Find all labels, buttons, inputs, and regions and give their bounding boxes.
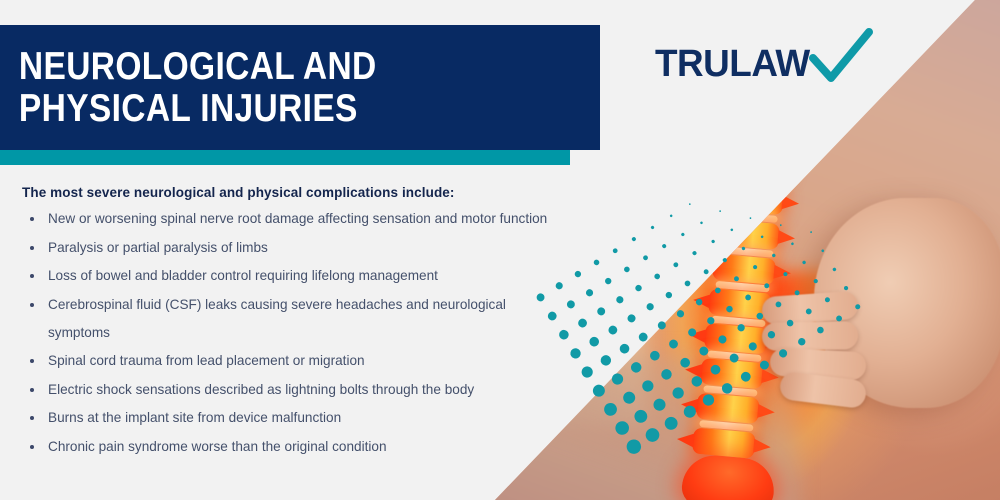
halftone-dot (730, 228, 733, 231)
halftone-dot (749, 217, 751, 219)
halftone-dot (599, 353, 613, 367)
halftone-dot (700, 221, 703, 224)
list-item-label: Loss of bowel and bladder control requir… (48, 268, 438, 283)
halftone-dot (585, 288, 595, 298)
halftone-dot (645, 302, 655, 312)
halftone-dot (650, 225, 654, 229)
sacrum-shape (680, 453, 776, 500)
list-item: Spinal cord trauma from lead placement o… (24, 347, 569, 375)
bullet-dot-icon (30, 303, 34, 307)
halftone-dot (615, 295, 625, 305)
hand-on-back (814, 198, 1000, 408)
halftone-dot (661, 243, 667, 249)
list-item: Cerebrospinal fluid (CSF) leaks causing … (24, 291, 569, 347)
halftone-dot (653, 273, 661, 281)
list-item: Loss of bowel and bladder control requir… (24, 262, 569, 290)
halftone-dot (634, 284, 643, 293)
list-item: Electric shock sensations described as l… (24, 376, 569, 404)
bullet-dot-icon (30, 274, 34, 278)
halftone-dot (623, 266, 631, 274)
bullet-dot-icon (30, 217, 34, 221)
list-item-label: Cerebrospinal fluid (CSF) leaks causing … (48, 297, 506, 340)
halftone-dot (607, 324, 619, 336)
halftone-dot (703, 268, 710, 275)
halftone-dot (593, 259, 601, 267)
list-item-label: Electric shock sensations described as l… (48, 382, 474, 397)
complications-list: New or worsening spinal nerve root damag… (24, 205, 569, 461)
halftone-dot (596, 306, 607, 317)
list-item-label: Paralysis or partial paralysis of limbs (48, 240, 268, 255)
slide-canvas: NEUROLOGICAL AND PHYSICAL INJURIES TRULA… (0, 0, 1000, 500)
halftone-dot (672, 261, 679, 268)
bullet-dot-icon (30, 359, 34, 363)
intro-heading: The most severe neurological and physica… (22, 185, 455, 200)
halftone-dot (612, 247, 619, 254)
list-item-label: Spinal cord trauma from lead placement o… (48, 353, 365, 368)
halftone-dot (618, 342, 631, 355)
halftone-dot (580, 364, 595, 379)
halftone-dot (604, 277, 613, 286)
halftone-dot (664, 291, 673, 300)
halftone-dot (689, 203, 691, 205)
halftone-dot (574, 270, 583, 279)
halftone-dot (684, 280, 692, 288)
spine-illustration (674, 43, 833, 499)
list-item-label: Burns at the implant site from device ma… (48, 410, 341, 425)
title-banner: NEUROLOGICAL AND PHYSICAL INJURIES (0, 25, 600, 150)
list-item: Chronic pain syndrome worse than the ori… (24, 433, 569, 461)
list-item: Paralysis or partial paralysis of limbs (24, 234, 569, 262)
bullet-dot-icon (30, 416, 34, 420)
accent-bar (0, 150, 570, 165)
halftone-dot (568, 346, 582, 360)
bullet-dot-icon (30, 388, 34, 392)
list-item-label: New or worsening spinal nerve root damag… (48, 211, 547, 226)
list-item-label: Chronic pain syndrome worse than the ori… (48, 439, 387, 454)
halftone-dot (669, 214, 672, 217)
halftone-dot (626, 313, 637, 324)
halftone-dot (577, 317, 589, 329)
halftone-dot (681, 232, 685, 236)
bullet-dot-icon (30, 246, 34, 250)
trulaw-logo[interactable]: TRULAW (655, 38, 875, 90)
halftone-dot (692, 250, 698, 256)
logo-wordmark: TRULAW (655, 43, 810, 86)
list-item: New or worsening spinal nerve root damag… (24, 205, 569, 233)
page-title: NEUROLOGICAL AND PHYSICAL INJURIES (0, 46, 377, 129)
bullet-dot-icon (30, 445, 34, 449)
halftone-dot (719, 210, 721, 212)
list-item: Burns at the implant site from device ma… (24, 404, 569, 432)
halftone-dot (711, 239, 716, 244)
halftone-dot (588, 335, 601, 348)
halftone-dot (642, 254, 649, 261)
checkmark-icon (809, 28, 875, 86)
halftone-dot (631, 236, 637, 242)
